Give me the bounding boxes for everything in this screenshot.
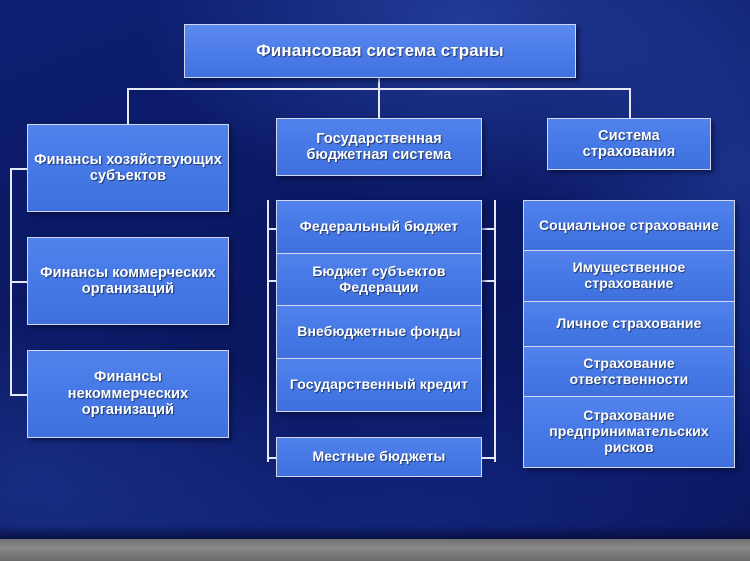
floor-strip	[0, 539, 750, 561]
node-label: Финансы некоммерческих организаций	[28, 369, 228, 418]
node-label: Личное страхование	[551, 316, 706, 332]
connector-left-stub-3	[10, 394, 28, 396]
connector-mid-left-spine	[267, 200, 269, 462]
node-imushchestvennoe-strahovanie[interactable]: Имущественное страхование	[523, 250, 735, 302]
node-label: Имущественное страхование	[524, 260, 734, 292]
node-label: Внебюджетные фонды	[292, 324, 465, 340]
connector-mid-right-stub-2	[482, 280, 496, 282]
node-gosudarstvennyy-kredit[interactable]: Государственный кредит	[276, 358, 482, 412]
node-byudzhet-subektov-federacii[interactable]: Бюджет субъектов Федерации	[276, 253, 482, 306]
node-label: Федеральный бюджет	[295, 219, 463, 235]
connector-branch-mid-down	[378, 88, 380, 118]
connector-branch-right-down	[629, 88, 631, 118]
diagram-canvas: Финансовая система страны Финансы хозяйс…	[0, 0, 750, 561]
node-strahovanie-predprinimatelskih-riskov[interactable]: Страхование предпринимательских рисков	[523, 396, 735, 468]
node-label: Финансы коммерческих организаций	[28, 265, 228, 298]
diagram-title-box: Финансовая система страны	[184, 24, 576, 78]
node-label: Государственный кредит	[285, 377, 473, 393]
connector-mid-right-stub-3	[482, 457, 496, 459]
node-label: Система страхования	[548, 128, 710, 161]
node-vnebyudzhetnye-fondy[interactable]: Внебюджетные фонды	[276, 305, 482, 359]
node-label: Страхование ответственности	[524, 356, 734, 388]
node-mestnye-byudzhety[interactable]: Местные бюджеты	[276, 437, 482, 477]
connector-left-stub-1	[10, 168, 28, 170]
node-lichnoe-strahovanie[interactable]: Личное страхование	[523, 301, 735, 347]
node-sistema-strahovaniya[interactable]: Система страхования	[547, 118, 711, 170]
node-gosudarstvennaya-byudzhetnaya-sistema[interactable]: Государственная бюджетная система	[276, 118, 482, 176]
node-finansy-hozyaystvuyushchih-subektov[interactable]: Финансы хозяйствующих субъектов	[27, 124, 229, 212]
connector-mid-right-stub-1	[482, 228, 496, 230]
node-label: Социальное страхование	[534, 218, 724, 234]
node-label: Страхование предпринимательских рисков	[524, 408, 734, 455]
connector-mid-right-spine	[494, 200, 496, 462]
node-strahovanie-otvetstvennosti[interactable]: Страхование ответственности	[523, 346, 735, 397]
stack-insurance-system: Социальное страхование Имущественное стр…	[523, 200, 735, 468]
node-label: Финансы хозяйствующих субъектов	[28, 152, 228, 185]
node-label: Государственная бюджетная система	[277, 131, 481, 164]
connector-branch-left-down	[127, 88, 129, 124]
node-label: Бюджет субъектов Федерации	[277, 264, 481, 296]
stack-budget-system: Федеральный бюджет Бюджет субъектов Феде…	[276, 200, 482, 412]
node-socialnoe-strahovanie[interactable]: Социальное страхование	[523, 200, 735, 251]
connector-left-stub-2	[10, 281, 28, 283]
floor-shadow	[0, 525, 750, 539]
node-federalnyy-byudzhet[interactable]: Федеральный бюджет	[276, 200, 482, 254]
node-finansy-nekommercheskih-organizaciy[interactable]: Финансы некоммерческих организаций	[27, 350, 229, 438]
node-finansy-kommercheskih-organizaciy[interactable]: Финансы коммерческих организаций	[27, 237, 229, 325]
diagram-title: Финансовая система страны	[251, 41, 508, 60]
node-label: Местные бюджеты	[308, 449, 451, 465]
